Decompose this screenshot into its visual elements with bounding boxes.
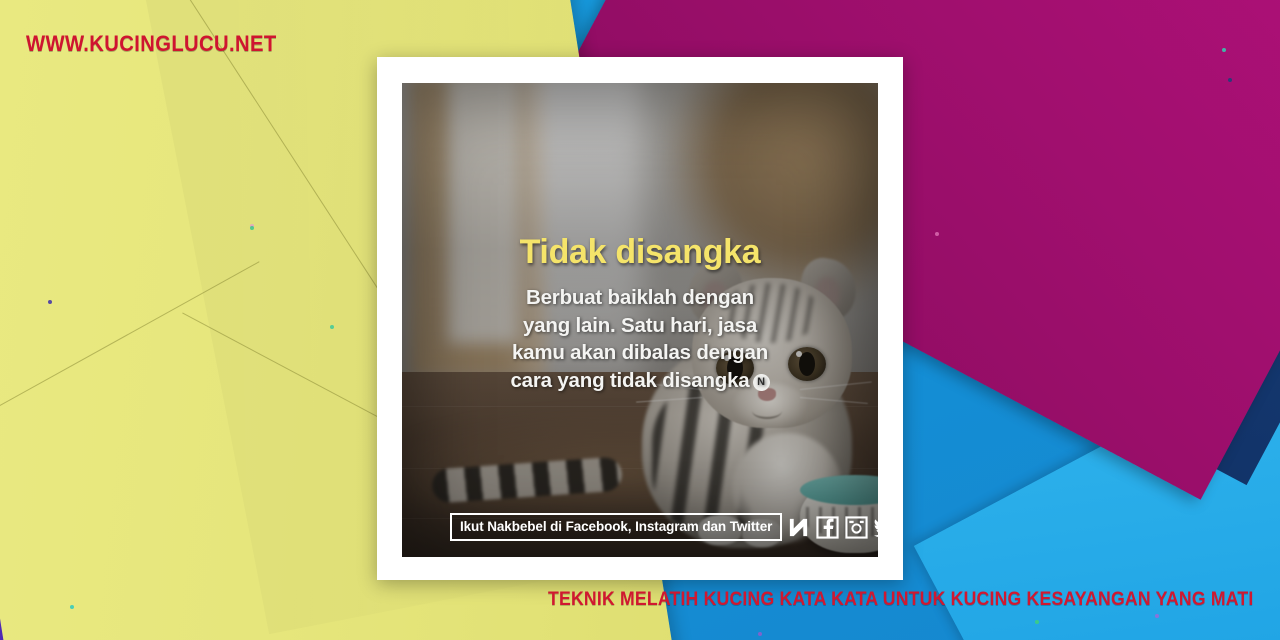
instagram-icon[interactable] — [844, 515, 869, 540]
quote-body: Berbuat baiklah dengan yang lain. Satu h… — [416, 284, 864, 396]
confetti-speck — [1228, 78, 1232, 82]
confetti-speck — [48, 300, 52, 304]
screenshot-canvas: WWW.KUCINGLUCU.NET — [0, 0, 1280, 640]
confetti-speck — [758, 632, 762, 636]
quote-headline: Tidak disangka — [416, 235, 864, 271]
confetti-speck — [935, 232, 939, 236]
confetti-speck — [1155, 614, 1159, 618]
confetti-speck — [250, 226, 254, 230]
social-footer-bar: Ikut Nakbebel di Facebook, Instagram dan… — [450, 513, 878, 541]
social-follow-label: Ikut Nakbebel di Facebook, Instagram dan… — [450, 513, 782, 541]
quote-overlay: Tidak disangka Berbuat baiklah dengan ya… — [402, 235, 878, 395]
nakbebel-logo-icon[interactable] — [786, 515, 811, 540]
confetti-speck — [330, 325, 334, 329]
confetti-speck — [1035, 620, 1039, 624]
nakbebel-badge-icon: N — [753, 374, 770, 391]
quote-body-line: yang lain. Satu hari, jasa — [416, 312, 864, 340]
quote-body-line-last: cara yang tidak disangkaN — [416, 367, 864, 395]
bottom-caption-text: TEKNIK MELATIH KUCING KATA KATA UNTUK KU… — [548, 589, 1253, 611]
facebook-icon[interactable] — [815, 515, 840, 540]
confetti-speck — [70, 605, 74, 609]
quote-body-line: Berbuat baiklah dengan — [416, 284, 864, 312]
twitter-icon[interactable] — [873, 515, 878, 540]
photo-card: Tidak disangka Berbuat baiklah dengan ya… — [377, 57, 903, 580]
quote-body-text: cara yang tidak disangka — [510, 369, 749, 392]
confetti-speck — [1222, 48, 1226, 52]
kitten-photo: Tidak disangka Berbuat baiklah dengan ya… — [402, 83, 878, 557]
site-watermark: WWW.KUCINGLUCU.NET — [26, 31, 277, 57]
quote-body-line: kamu akan dibalas dengan — [416, 339, 864, 367]
